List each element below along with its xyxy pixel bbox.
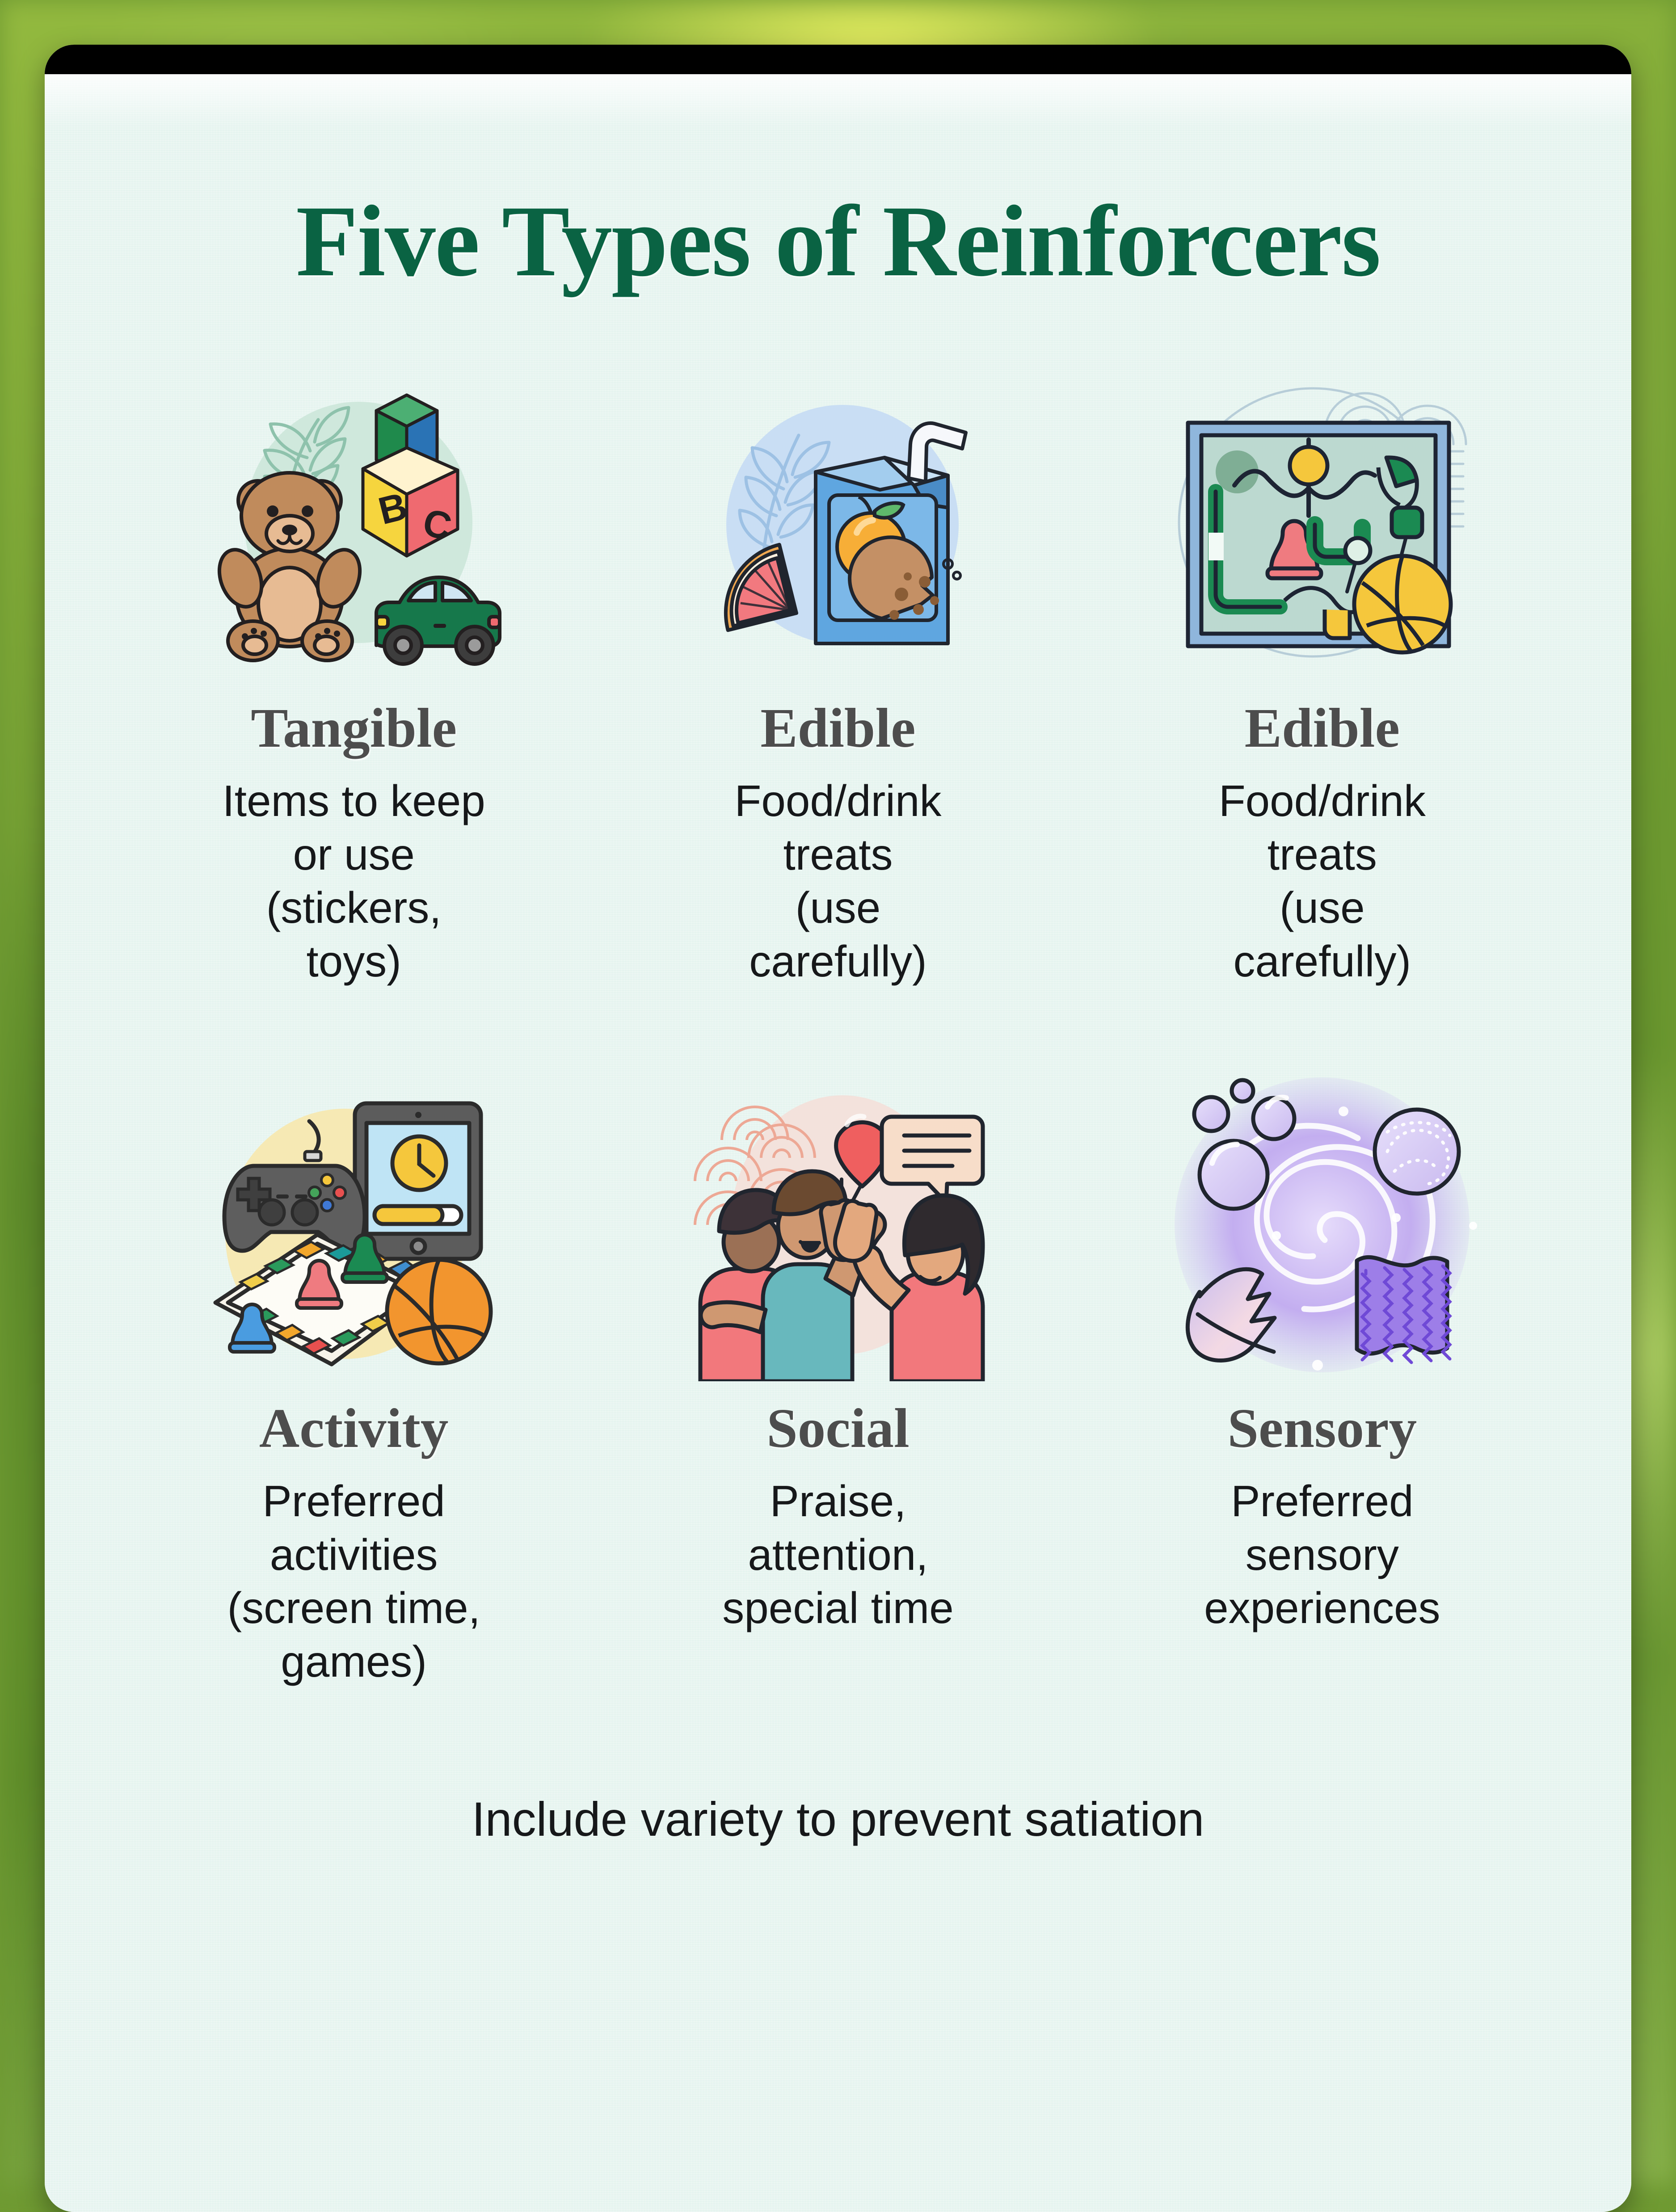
card-description-activity: Preferred activities (screen time, games… <box>227 1475 480 1688</box>
juice-box-orange-grapefruit-cookie-illustration <box>682 368 994 681</box>
card-edible-1: Edible Food/drink treats (use carefully) <box>596 368 1080 988</box>
board-game-frame-pawn-basketball-illustration <box>1166 368 1478 681</box>
top-black-bar <box>45 45 1631 74</box>
card-activity: Activity Preferred activities (screen ti… <box>112 1068 596 1688</box>
gamepad-tablet-boardgame-basketball-illustration <box>198 1068 510 1381</box>
poster-card: Five Types of Reinforcers <box>45 45 1631 2212</box>
people-high-five-heart-speech-bubble-illustration <box>682 1068 994 1381</box>
card-title-sensory: Sensory <box>1228 1401 1417 1457</box>
card-sensory: Sensory Preferred sensory experiences <box>1080 1068 1564 1688</box>
card-description-social: Praise, attention, special time <box>722 1475 953 1635</box>
card-description-sensory: Preferred sensory experiences <box>1204 1475 1440 1635</box>
card-edible-2: Edible Food/drink treats (use carefully) <box>1080 368 1564 988</box>
reinforcer-grid-row-1: B C <box>45 368 1631 988</box>
card-description-tangible: Items to keep or use (stickers, toys) <box>223 774 485 988</box>
teddy-bear-blocks-car-illustration: B C <box>198 368 510 681</box>
card-title-social: Social <box>766 1401 909 1457</box>
card-title-edible-1: Edible <box>760 701 915 757</box>
footer-note: Include variety to prevent satiation <box>45 1791 1631 1847</box>
card-description-edible-1: Food/drink treats (use carefully) <box>734 774 941 988</box>
card-title-tangible: Tangible <box>251 701 457 757</box>
card-social: Social Praise, attention, special time <box>596 1068 1080 1688</box>
reinforcer-grid-row-2: Activity Preferred activities (screen ti… <box>45 1068 1631 1688</box>
card-tangible: B C <box>112 368 596 988</box>
card-title-activity: Activity <box>259 1401 448 1457</box>
card-title-edible-2: Edible <box>1245 701 1400 757</box>
bubbles-swirl-feather-fabric-illustration <box>1166 1068 1478 1381</box>
card-description-edible-2: Food/drink treats (use carefully) <box>1219 774 1426 988</box>
page-title: Five Types of Reinforcers <box>45 74 1631 292</box>
